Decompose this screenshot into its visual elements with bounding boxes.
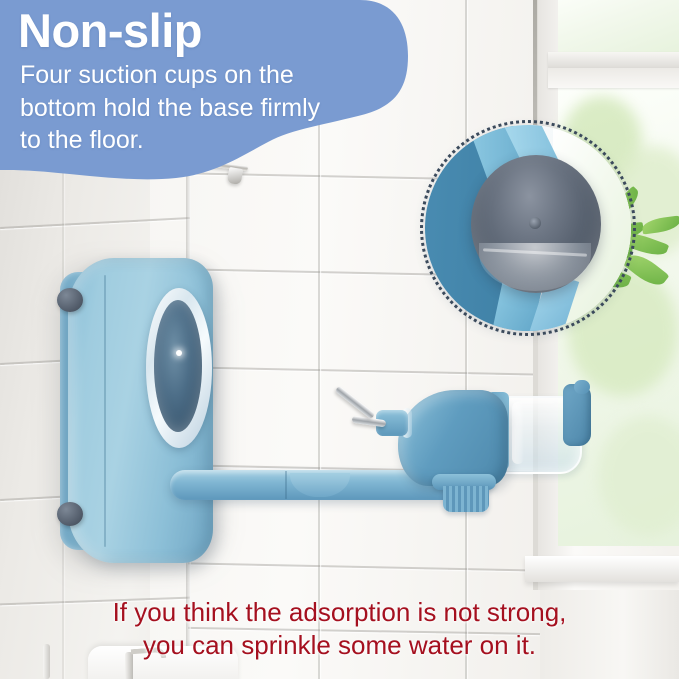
product-marketing-image: Non-slip Four suction cups on the bottom… <box>0 0 679 679</box>
callout-dotted-border <box>420 120 636 336</box>
base-seam-line <box>104 275 106 547</box>
chrome-reflector-recess <box>154 300 202 432</box>
banner-subtext-line-1: Four suction cups on the <box>20 61 294 89</box>
headline-banner-text: Non-slip Four suction cups on the bottom… <box>18 6 398 157</box>
caption-line-2: you can sprinkle some water on it. <box>0 629 679 662</box>
bottom-caption: If you think the adsorption is not stron… <box>0 596 679 663</box>
window-mullion <box>548 52 679 68</box>
banner-subtext-line-3: to the floor. <box>20 126 144 154</box>
suction-cup-top <box>57 288 83 312</box>
grout-line-vertical <box>465 0 467 679</box>
page-title: Non-slip <box>18 6 398 55</box>
window-mullion <box>548 68 679 88</box>
suction-cup-bottom <box>57 502 83 526</box>
caption-line-1: If you think the adsorption is not stron… <box>0 596 679 629</box>
bottle-cap-tab <box>574 380 590 394</box>
circular-zoom-callout <box>420 120 636 336</box>
window-sill <box>525 556 679 582</box>
arm-joint-line <box>285 471 287 499</box>
sprayer-head <box>398 390 508 486</box>
valve-connector <box>443 486 489 512</box>
window-pane-top <box>558 0 679 54</box>
foliage-blur <box>598 416 679 536</box>
banner-subtext-line-2: bottom hold the base firmly <box>20 94 320 122</box>
banner-subtext: Four suction cups on the bottom hold the… <box>20 59 398 157</box>
highlight-glint <box>176 350 182 356</box>
bottle-highlight <box>512 402 524 464</box>
